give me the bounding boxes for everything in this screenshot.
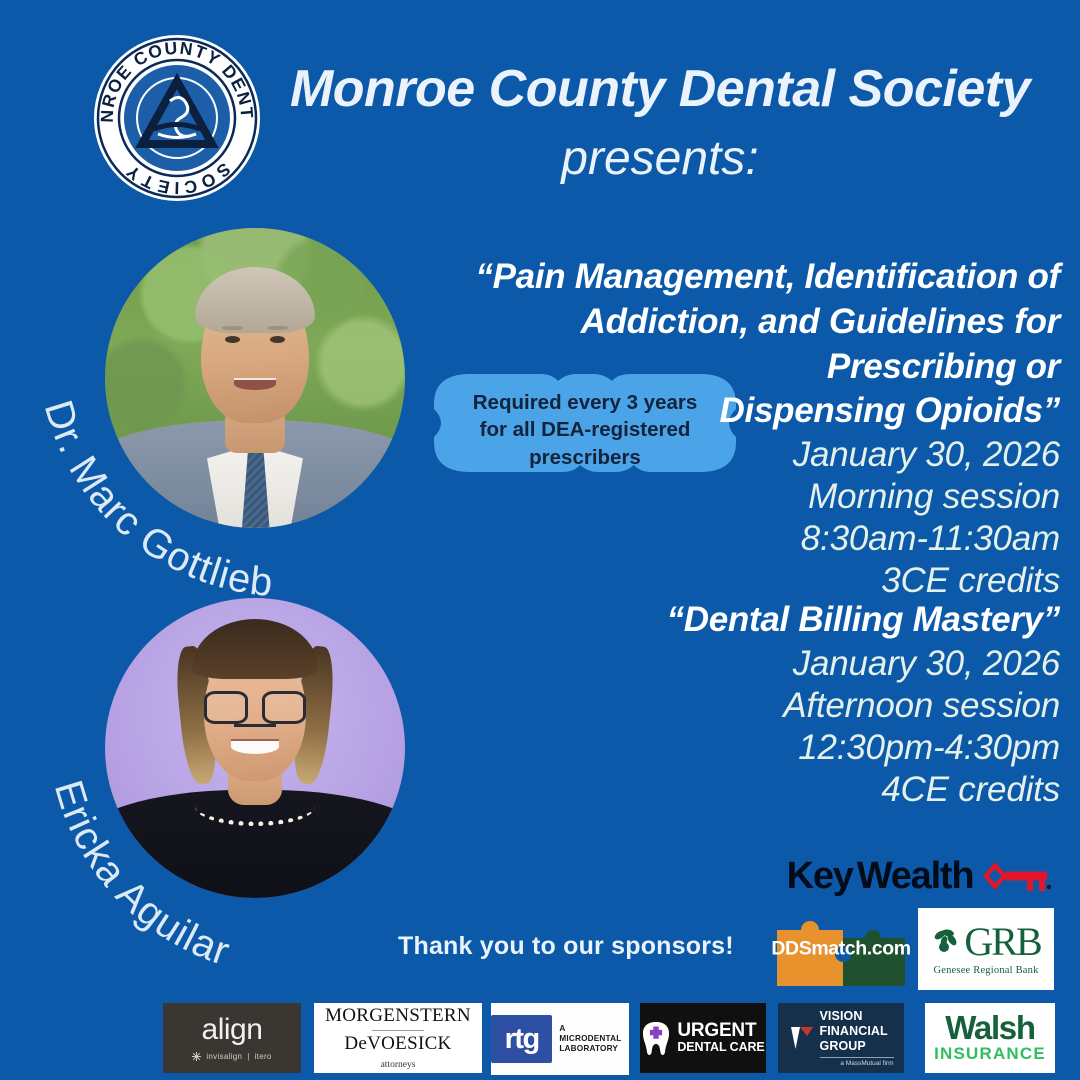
key-wealth-word-2: Wealth: [857, 855, 974, 898]
urgent-line-1: URGENT: [677, 1021, 764, 1041]
speaker-name-aguilar-text: Ericka Aguilar: [46, 776, 236, 975]
align-divider: |: [247, 1052, 249, 1061]
svg-text:Dr. Marc Gottlieb: Dr. Marc Gottlieb: [36, 395, 276, 605]
rtg-sub-line-1: A MICRODENTAL: [559, 1024, 629, 1045]
align-sub-right: itero: [255, 1052, 272, 1061]
v-chevron-icon: [789, 1023, 815, 1053]
walsh-line-2: INSURANCE: [934, 1045, 1046, 1064]
tooth-cross-icon: [641, 1020, 671, 1056]
sponsor-logo-rtg: rtg A MICRODENTAL LABORATORY: [491, 1003, 629, 1075]
sponsor-logo-vision-financial-group: VISION FINANCIAL GROUP a MassMutual firm: [778, 1003, 904, 1073]
morgenstern-line-2: DeVOESICK: [344, 1034, 451, 1055]
session-afternoon: “Dental Billing Mastery” January 30, 202…: [620, 598, 1060, 811]
session-morning-date: January 30, 2026: [400, 434, 1060, 476]
vision-rule: [820, 1057, 894, 1058]
rtg-sub-line-2: LABORATORY: [559, 1044, 629, 1054]
key-wealth-word-1: Key: [787, 855, 853, 898]
grb-letters: GRB: [964, 922, 1040, 962]
sponsors-thanks-label: Thank you to our sponsors!: [398, 932, 734, 961]
sponsor-logo-grb: GRB Genesee Regional Bank: [918, 908, 1054, 990]
session-afternoon-title: “Dental Billing Mastery”: [620, 598, 1060, 643]
society-seal-icon: MONROE COUNTY DENTAL SOCIETY: [92, 33, 262, 203]
session-morning-title-line-1: “Pain Management, Identification of: [400, 255, 1060, 300]
vision-line-1: VISION: [820, 1009, 894, 1024]
morgenstern-rule: [372, 1030, 424, 1031]
svg-text:Ericka Aguilar: Ericka Aguilar: [46, 776, 236, 975]
vision-subtitle: a MassMutual firm: [820, 1060, 894, 1067]
key-icon: [977, 856, 1051, 896]
align-sub-left: invisalign: [206, 1052, 242, 1061]
morgenstern-line-3: attorneys: [381, 1060, 416, 1070]
ddsmatch-bold: DDS: [771, 938, 811, 960]
walsh-line-1: Walsh: [945, 1012, 1034, 1043]
session-morning-time: 8:30am-11:30am: [400, 518, 1060, 560]
urgent-line-2: DENTAL CARE: [677, 1040, 764, 1055]
invisalign-sparkle-icon: [192, 1052, 201, 1061]
session-morning-title-line-2: Addiction, and Guidelines for Prescribin…: [400, 300, 1060, 390]
sponsor-logo-morgenstern-devoesick: MORGENSTERN DeVOESICK attorneys: [314, 1003, 482, 1073]
page-title: Monroe County Dental Society: [265, 62, 1055, 117]
sponsor-logo-urgent-dental-care: URGENT DENTAL CARE: [640, 1003, 766, 1073]
rtg-word: rtg: [505, 1023, 539, 1056]
rtg-badge: rtg: [491, 1015, 552, 1063]
sponsor-logo-ddsmatch: DDSmatch.com: [767, 908, 915, 990]
session-morning-title-line-3: Dispensing Opioids”: [400, 389, 1060, 434]
session-afternoon-time: 12:30pm-4:30pm: [620, 727, 1060, 769]
session-morning-credits: 3CE credits: [400, 560, 1060, 602]
morgenstern-line-1: MORGENSTERN: [325, 1006, 471, 1027]
sponsor-logo-align: align invisalign | itero: [163, 1003, 301, 1073]
flyer-canvas: MONROE COUNTY DENTAL SOCIETY Monroe Coun…: [0, 0, 1080, 1080]
session-morning: “Pain Management, Identification of Addi…: [400, 255, 1060, 602]
speaker-name-gottlieb-text: Dr. Marc Gottlieb: [36, 395, 276, 605]
align-word: align: [202, 1015, 263, 1045]
sponsor-logo-walsh-insurance: Walsh INSURANCE: [925, 1003, 1055, 1073]
vision-line-3: GROUP: [820, 1039, 894, 1054]
header-presents-label: presents:: [265, 134, 1055, 184]
vision-line-2: FINANCIAL: [820, 1024, 894, 1039]
pinwheel-icon: [931, 927, 961, 957]
grb-subtitle: Genesee Regional Bank: [933, 965, 1038, 976]
sponsor-logo-key-wealth: Key Wealth: [783, 852, 1055, 900]
session-afternoon-credits: 4CE credits: [620, 769, 1060, 811]
session-afternoon-label: Afternoon session: [620, 685, 1060, 727]
ddsmatch-rest: match.com: [811, 938, 910, 960]
session-morning-label: Morning session: [400, 476, 1060, 518]
session-afternoon-date: January 30, 2026: [620, 643, 1060, 685]
